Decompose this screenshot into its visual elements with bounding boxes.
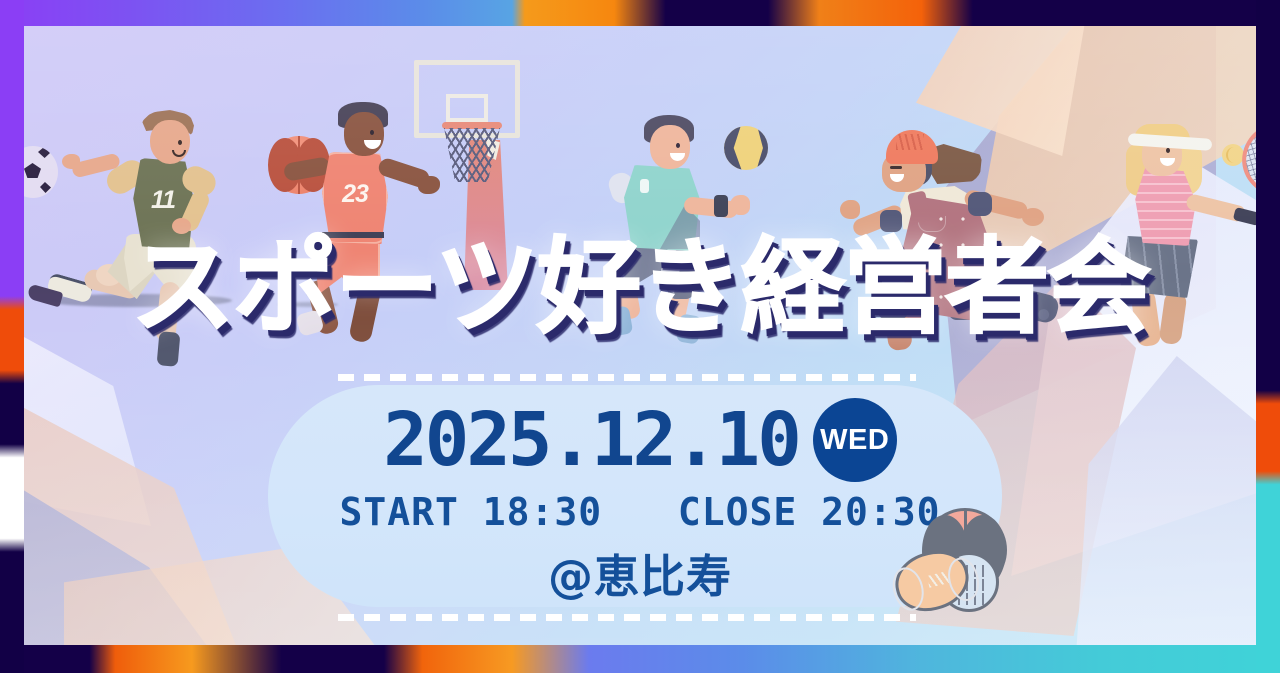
sports-ball-cluster-icon — [895, 508, 1015, 612]
soccer-jersey-number: 11 — [142, 186, 184, 215]
day-of-week-badge: WED — [813, 398, 897, 482]
dashed-divider-top — [338, 374, 916, 381]
volleyball-icon — [724, 126, 768, 170]
event-time-row: START 18:30 CLOSE 20:30 — [0, 490, 1280, 534]
event-venue: @恵比寿 — [0, 540, 1280, 605]
dashed-divider-bottom — [338, 614, 916, 621]
event-banner: 11 23 — [0, 0, 1280, 673]
event-date: 2025.12.10 — [383, 403, 799, 477]
tennis-ball-icon — [1222, 144, 1244, 166]
event-start-time: START 18:30 — [339, 490, 602, 534]
basketball-jersey-number: 23 — [330, 180, 380, 209]
event-date-row: 2025.12.10 WED — [0, 398, 1280, 482]
event-title: スポーツ好き経営者会 — [0, 235, 1280, 339]
frame-top-band — [0, 0, 1280, 26]
soccer-ball-icon — [24, 146, 58, 198]
frame-bottom-band — [0, 645, 1280, 673]
